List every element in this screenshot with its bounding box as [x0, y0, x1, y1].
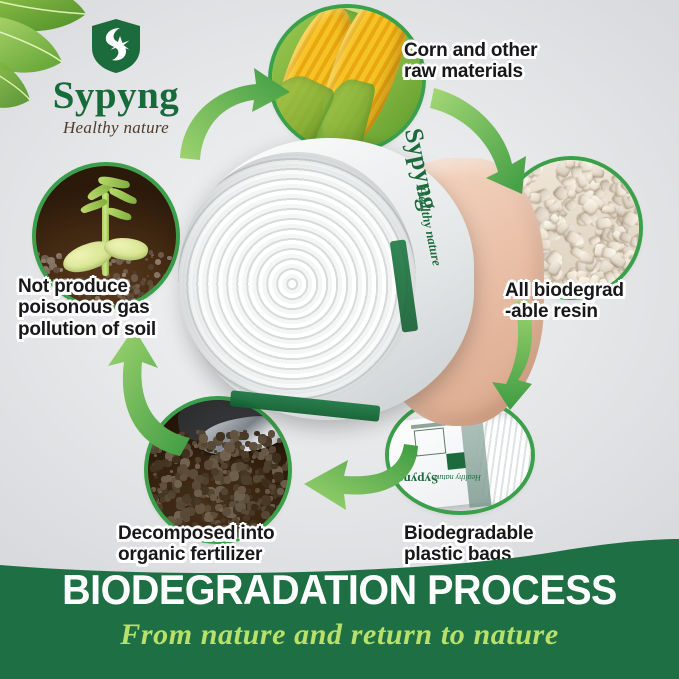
- label-resin-line1: All biodegrad: [505, 280, 624, 301]
- label-resin: All biodegrad -able resin: [505, 280, 624, 323]
- infographic-canvas: Sypyng Healthy nature: [0, 0, 679, 679]
- label-corn-line2: raw materials: [404, 61, 537, 82]
- bottom-banner: BIODEGRADATION PROCESS From nature and r…: [0, 539, 679, 679]
- banner-subtitle: From nature and return to nature: [0, 618, 679, 652]
- bag-roll-spiral: [178, 152, 416, 406]
- banner-title: BIODEGRADATION PROCESS: [20, 569, 658, 611]
- label-soil-line1: Not produce: [18, 276, 156, 297]
- shield-leaf-logo-icon: [90, 18, 142, 74]
- arrow-soil-to-corn: [176, 62, 306, 172]
- arrow-fertilizer-to-soil: [62, 326, 192, 462]
- label-soil-line3: pollution of soil: [18, 319, 156, 340]
- label-soil: Not produce poisonous gas pollution of s…: [18, 276, 156, 340]
- arrow-bags-to-fertilizer: [292, 432, 422, 522]
- label-corn: Corn and other raw materials: [404, 40, 537, 83]
- label-resin-line2: -able resin: [505, 301, 624, 322]
- label-corn-line1: Corn and other: [404, 40, 537, 61]
- label-soil-line2: poisonous gas: [18, 297, 156, 318]
- arrow-corn-to-resin: [428, 86, 548, 194]
